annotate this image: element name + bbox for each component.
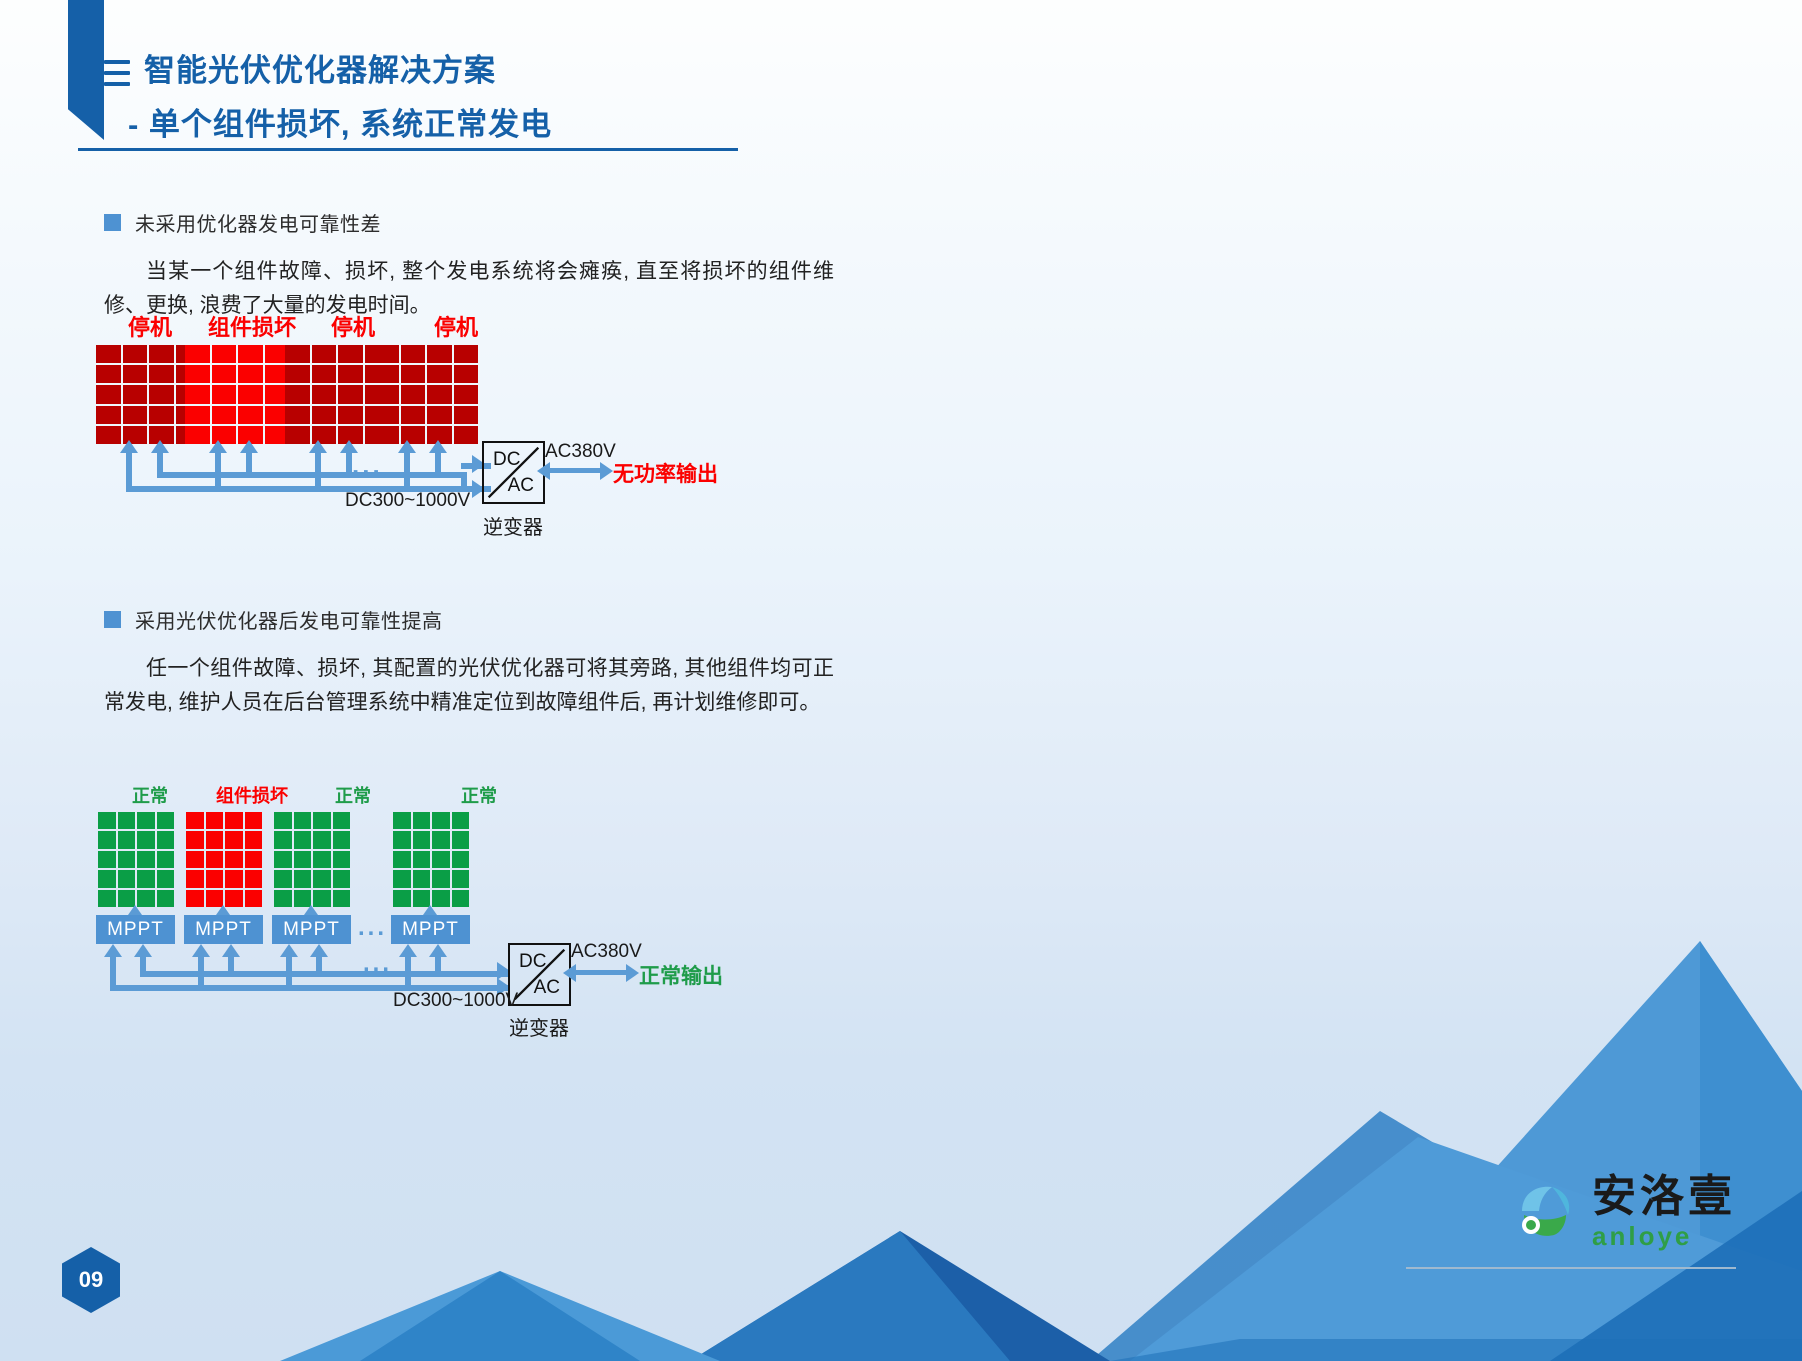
panel-mppt-arrow-up <box>128 905 142 915</box>
panel-cell <box>365 385 390 403</box>
logo-leaf-icon <box>1514 1181 1580 1243</box>
section1-heading-row: 未采用优化器发电可靠性差 <box>104 208 834 237</box>
panel-cell <box>313 851 331 868</box>
panel-cell <box>265 406 290 424</box>
inverter-input-arrow <box>472 455 485 473</box>
mppt-label: MPPT <box>402 919 459 941</box>
logo-chinese-text: 安洛壹 <box>1592 1175 1736 1219</box>
panel-cell <box>225 851 243 868</box>
panel-cell <box>285 345 310 363</box>
panel-cell <box>238 426 263 444</box>
panel-cell <box>118 890 136 907</box>
panel-cell <box>427 426 452 444</box>
inverter-box-1: DC AC <box>482 441 545 504</box>
panel-cell <box>225 870 243 887</box>
panel-cell <box>118 851 136 868</box>
panel-cell <box>185 365 210 383</box>
panel-cell <box>186 812 204 829</box>
panel-cell <box>206 812 224 829</box>
panel-cell <box>123 365 148 383</box>
inverter-dc-label: DC <box>493 449 520 471</box>
bullet-square-icon <box>104 611 121 628</box>
panel-cell <box>206 870 224 887</box>
panel-cell <box>176 426 201 444</box>
panel-cell <box>338 385 363 403</box>
opt-solar-panel-2 <box>186 812 262 907</box>
opt-panel1-label: 正常 <box>132 782 168 808</box>
panel-cell <box>157 870 175 887</box>
panel-cell <box>294 831 312 848</box>
panel-cell <box>245 851 263 868</box>
panel-cell <box>432 870 450 887</box>
panel-cell <box>186 851 204 868</box>
opt-solar-panel-4 <box>393 812 469 907</box>
panel-cell <box>185 426 210 444</box>
panel-cell <box>285 385 310 403</box>
riser-wire <box>435 452 441 478</box>
panel-cell <box>312 365 337 383</box>
brochure-page: 智能光伏优化器解决方案 - 单个组件损坏, 系统正常发电 未采用优化器发电可靠性… <box>0 0 1802 1361</box>
panel-cell <box>137 890 155 907</box>
panel-cell <box>225 831 243 848</box>
panel-cell <box>432 831 450 848</box>
panel-cell <box>137 870 155 887</box>
panel-cell <box>98 870 116 887</box>
panel-cell <box>312 345 337 363</box>
panel-cell <box>452 851 470 868</box>
riser-arrow <box>120 440 138 453</box>
riser-arrow <box>398 440 416 453</box>
panel-cell <box>338 345 363 363</box>
section1-paragraph: 当某一个组件故障、损坏, 整个发电系统将会瘫痪, 直至将损坏的组件维修、更换, … <box>104 255 834 323</box>
panel-cell <box>98 851 116 868</box>
panel-cell <box>157 890 175 907</box>
panel-cell <box>245 870 263 887</box>
panel-mppt-arrow-down <box>128 922 142 932</box>
panel-cell <box>212 365 237 383</box>
panel-mppt-arrow-down <box>304 922 318 932</box>
panel-cell <box>393 851 411 868</box>
opt-panel2-label: 组件损坏 <box>216 782 288 808</box>
panel-cell <box>118 870 136 887</box>
panel-cell <box>401 365 426 383</box>
panel-cell <box>333 831 351 848</box>
panel-cell <box>274 812 292 829</box>
panel-cell <box>393 812 411 829</box>
mppt-box-1[interactable]: MPPT <box>96 915 175 944</box>
opt-panel3-label: 正常 <box>335 782 371 808</box>
panel-cell <box>401 406 426 424</box>
panel-mppt-arrow-down <box>423 922 437 932</box>
ac-voltage-label-1: AC380V <box>545 441 616 463</box>
panel-cell <box>401 426 426 444</box>
panel-cell <box>338 406 363 424</box>
section-with-optimizer: 采用光伏优化器后发电可靠性提高 任一个组件故障、损坏, 其配置的光伏优化器可将其… <box>104 605 834 720</box>
panel-cell <box>176 406 201 424</box>
panel-cell <box>294 851 312 868</box>
panel-cell <box>185 345 210 363</box>
panel-cell <box>245 831 263 848</box>
panel-cell <box>313 831 331 848</box>
ac-out-wire-1 <box>548 468 604 473</box>
panel-cell <box>186 831 204 848</box>
panel-cell <box>338 426 363 444</box>
panel-cell <box>454 345 479 363</box>
section-without-optimizer: 未采用优化器发电可靠性差 当某一个组件故障、损坏, 整个发电系统将会瘫痪, 直至… <box>104 208 834 323</box>
ac-out-arrow-right <box>600 462 613 480</box>
dc-voltage-label-1: DC300~1000V <box>345 490 470 512</box>
panel-cell <box>432 812 450 829</box>
riser-arrow <box>429 440 447 453</box>
riser-arrow <box>340 440 358 453</box>
riser-wire <box>315 452 321 492</box>
panel-cell <box>96 406 121 424</box>
panel-cell <box>265 365 290 383</box>
page-header: 智能光伏优化器解决方案 - 单个组件损坏, 系统正常发电 <box>104 52 864 144</box>
page-subtitle: - 单个组件损坏, 系统正常发电 <box>128 99 864 144</box>
riser-wire <box>215 452 221 492</box>
riser-arrow <box>151 440 169 453</box>
panel-cell <box>118 812 136 829</box>
panel-cell <box>206 831 224 848</box>
series-ellipsis: ... <box>352 450 383 481</box>
panel-cell <box>452 890 470 907</box>
bus-join <box>461 472 467 492</box>
panel-cell <box>176 345 201 363</box>
panel-cell <box>157 831 175 848</box>
bus-wire-upper <box>126 486 466 492</box>
panel-mppt-link <box>309 912 314 926</box>
panel-cell <box>149 406 174 424</box>
panel-cell <box>427 365 452 383</box>
panel-mppt-arrow-up <box>423 905 437 915</box>
panel-cell <box>176 385 201 403</box>
panel-cell <box>365 406 390 424</box>
panel-mppt-arrow-up <box>304 905 318 915</box>
panel-cell <box>452 812 470 829</box>
opt-solar-panel-1 <box>98 812 174 907</box>
panel-cell <box>285 406 310 424</box>
header-flag-accent <box>68 0 104 140</box>
panel-cell <box>149 426 174 444</box>
panel-cell <box>265 345 290 363</box>
panel-cell <box>176 365 201 383</box>
mppt-label: MPPT <box>283 919 340 941</box>
panel-mppt-link <box>428 912 433 926</box>
panel-cell <box>118 831 136 848</box>
panel-cell <box>294 890 312 907</box>
panel-cell <box>413 812 431 829</box>
riser-wire <box>246 452 252 478</box>
panel-cell <box>137 831 155 848</box>
panel-cell <box>265 426 290 444</box>
title-divider <box>78 148 738 151</box>
panel-cell <box>274 831 292 848</box>
panel-cell <box>393 870 411 887</box>
panel-cell <box>401 345 426 363</box>
output-label-1: 无功率输出 <box>613 458 718 488</box>
mppt-box-4[interactable]: MPPT <box>391 915 470 944</box>
panel-cell <box>212 406 237 424</box>
panel-cell <box>427 345 452 363</box>
panel-cell <box>123 406 148 424</box>
panel-cell <box>98 890 116 907</box>
panel-cell <box>238 365 263 383</box>
panel-cell <box>454 385 479 403</box>
inverter-diagonal-icon <box>484 443 543 502</box>
riser-arrow <box>209 440 227 453</box>
panel-cell <box>294 870 312 887</box>
panel-cell <box>374 345 399 363</box>
panel-mppt-link <box>133 912 138 926</box>
panel-cell <box>123 385 148 403</box>
panel-cell <box>123 426 148 444</box>
panel-cell <box>238 406 263 424</box>
solar-panel-2 <box>185 345 289 444</box>
panel-cell <box>413 831 431 848</box>
panel-cell <box>432 890 450 907</box>
bullet-square-icon <box>104 214 121 231</box>
panel-cell <box>452 870 470 887</box>
panel-cell <box>96 426 121 444</box>
panel-cell <box>393 831 411 848</box>
panel-cell <box>137 851 155 868</box>
panel-cell <box>212 426 237 444</box>
panel-cell <box>313 890 331 907</box>
panel-cell <box>98 831 116 848</box>
panel-cell <box>454 365 479 383</box>
panel-cell <box>238 345 263 363</box>
panel-cell <box>137 812 155 829</box>
riser-wire <box>346 452 352 478</box>
panel-cell <box>374 385 399 403</box>
mppt-box-2[interactable]: MPPT <box>184 915 263 944</box>
panel-cell <box>294 812 312 829</box>
solar-panel-1 <box>96 345 200 444</box>
panel-cell <box>96 385 121 403</box>
panel-cell <box>393 890 411 907</box>
riser-wire <box>157 452 163 478</box>
section1-heading: 未采用优化器发电可靠性差 <box>135 208 381 237</box>
panel-cell <box>212 385 237 403</box>
panel-cell <box>427 406 452 424</box>
panel-cell <box>427 385 452 403</box>
panel-cell <box>452 831 470 848</box>
panel-cell <box>186 870 204 887</box>
inverter-ac-label: AC <box>508 475 534 497</box>
solar-panel-3 <box>285 345 389 444</box>
mppt-box-3[interactable]: MPPT <box>272 915 351 944</box>
panel-cell <box>274 890 292 907</box>
solar-panel-4 <box>374 345 478 444</box>
panel-cell <box>185 406 210 424</box>
panel-cell <box>333 890 351 907</box>
panel-cell <box>312 406 337 424</box>
panel-cell <box>333 851 351 868</box>
panel-cell <box>225 812 243 829</box>
panel-cell <box>149 365 174 383</box>
panel-cell <box>413 870 431 887</box>
mppt-ellipsis: ... <box>358 914 387 942</box>
riser-wire <box>126 452 132 492</box>
panel-cell <box>185 385 210 403</box>
bus-wire-lower <box>157 472 467 478</box>
panel-cell <box>413 890 431 907</box>
panel-cell <box>313 870 331 887</box>
panel-cell <box>454 406 479 424</box>
riser-arrow <box>240 440 258 453</box>
bus-to-inverter <box>461 463 491 469</box>
panel-cell <box>413 851 431 868</box>
panel-cell <box>313 812 331 829</box>
ac-out-arrow-left <box>537 462 550 480</box>
mountain-decoration <box>0 941 1802 1361</box>
riser-arrow <box>309 440 327 453</box>
page-title: 智能光伏优化器解决方案 <box>144 52 496 91</box>
inverter-input-arrow <box>472 480 485 498</box>
panel-cell <box>374 365 399 383</box>
panel-cell <box>274 870 292 887</box>
mppt-label: MPPT <box>107 919 164 941</box>
panel-cell <box>245 890 263 907</box>
panel-cell <box>149 345 174 363</box>
panel-cell <box>365 365 390 383</box>
panel-cell <box>245 812 263 829</box>
panel-cell <box>312 426 337 444</box>
company-logo: 安洛壹 anloye <box>1514 1175 1736 1249</box>
panel-cell <box>265 385 290 403</box>
mppt-label: MPPT <box>195 919 252 941</box>
hamburger-icon <box>104 60 130 86</box>
panel-mppt-arrow-up <box>216 905 230 915</box>
opt-panel4-label: 正常 <box>461 782 497 808</box>
panel-cell <box>338 365 363 383</box>
panel-cell <box>225 890 243 907</box>
panel-cell <box>312 385 337 403</box>
panel-cell <box>374 406 399 424</box>
section2-paragraph: 任一个组件故障、损坏, 其配置的光伏优化器可将其旁路, 其他组件均可正常发电, … <box>104 652 834 720</box>
section2-heading-row: 采用光伏优化器后发电可靠性提高 <box>104 605 834 634</box>
panel-cell <box>401 385 426 403</box>
panel-cell <box>285 365 310 383</box>
panel-cell <box>96 365 121 383</box>
panel-cell <box>157 812 175 829</box>
panel-cell <box>454 426 479 444</box>
panel-cell <box>333 812 351 829</box>
panel-cell <box>186 890 204 907</box>
panel-mppt-arrow-down <box>216 922 230 932</box>
opt-solar-panel-3 <box>274 812 350 907</box>
panel-cell <box>238 385 263 403</box>
section2-heading: 采用光伏优化器后发电可靠性提高 <box>135 605 443 634</box>
panel-cell <box>374 426 399 444</box>
panel-cell <box>285 426 310 444</box>
panel-cell <box>149 385 174 403</box>
panel-cell <box>365 345 390 363</box>
panel-cell <box>212 345 237 363</box>
bus-to-inverter <box>461 486 491 492</box>
panel-cell <box>206 851 224 868</box>
panel-cell <box>98 812 116 829</box>
logo-english-text: anloye <box>1592 1223 1736 1249</box>
panel-cell <box>157 851 175 868</box>
logo-underline <box>1406 1267 1736 1269</box>
panel-cell <box>432 851 450 868</box>
panel-mppt-link <box>221 912 226 926</box>
panel-cell <box>123 345 148 363</box>
panel-cell <box>206 890 224 907</box>
panel-cell <box>274 851 292 868</box>
panel-cell <box>96 345 121 363</box>
inverter-caption-1: 逆变器 <box>483 511 543 540</box>
panel-cell <box>365 426 390 444</box>
riser-wire <box>404 452 410 492</box>
panel-cell <box>333 870 351 887</box>
